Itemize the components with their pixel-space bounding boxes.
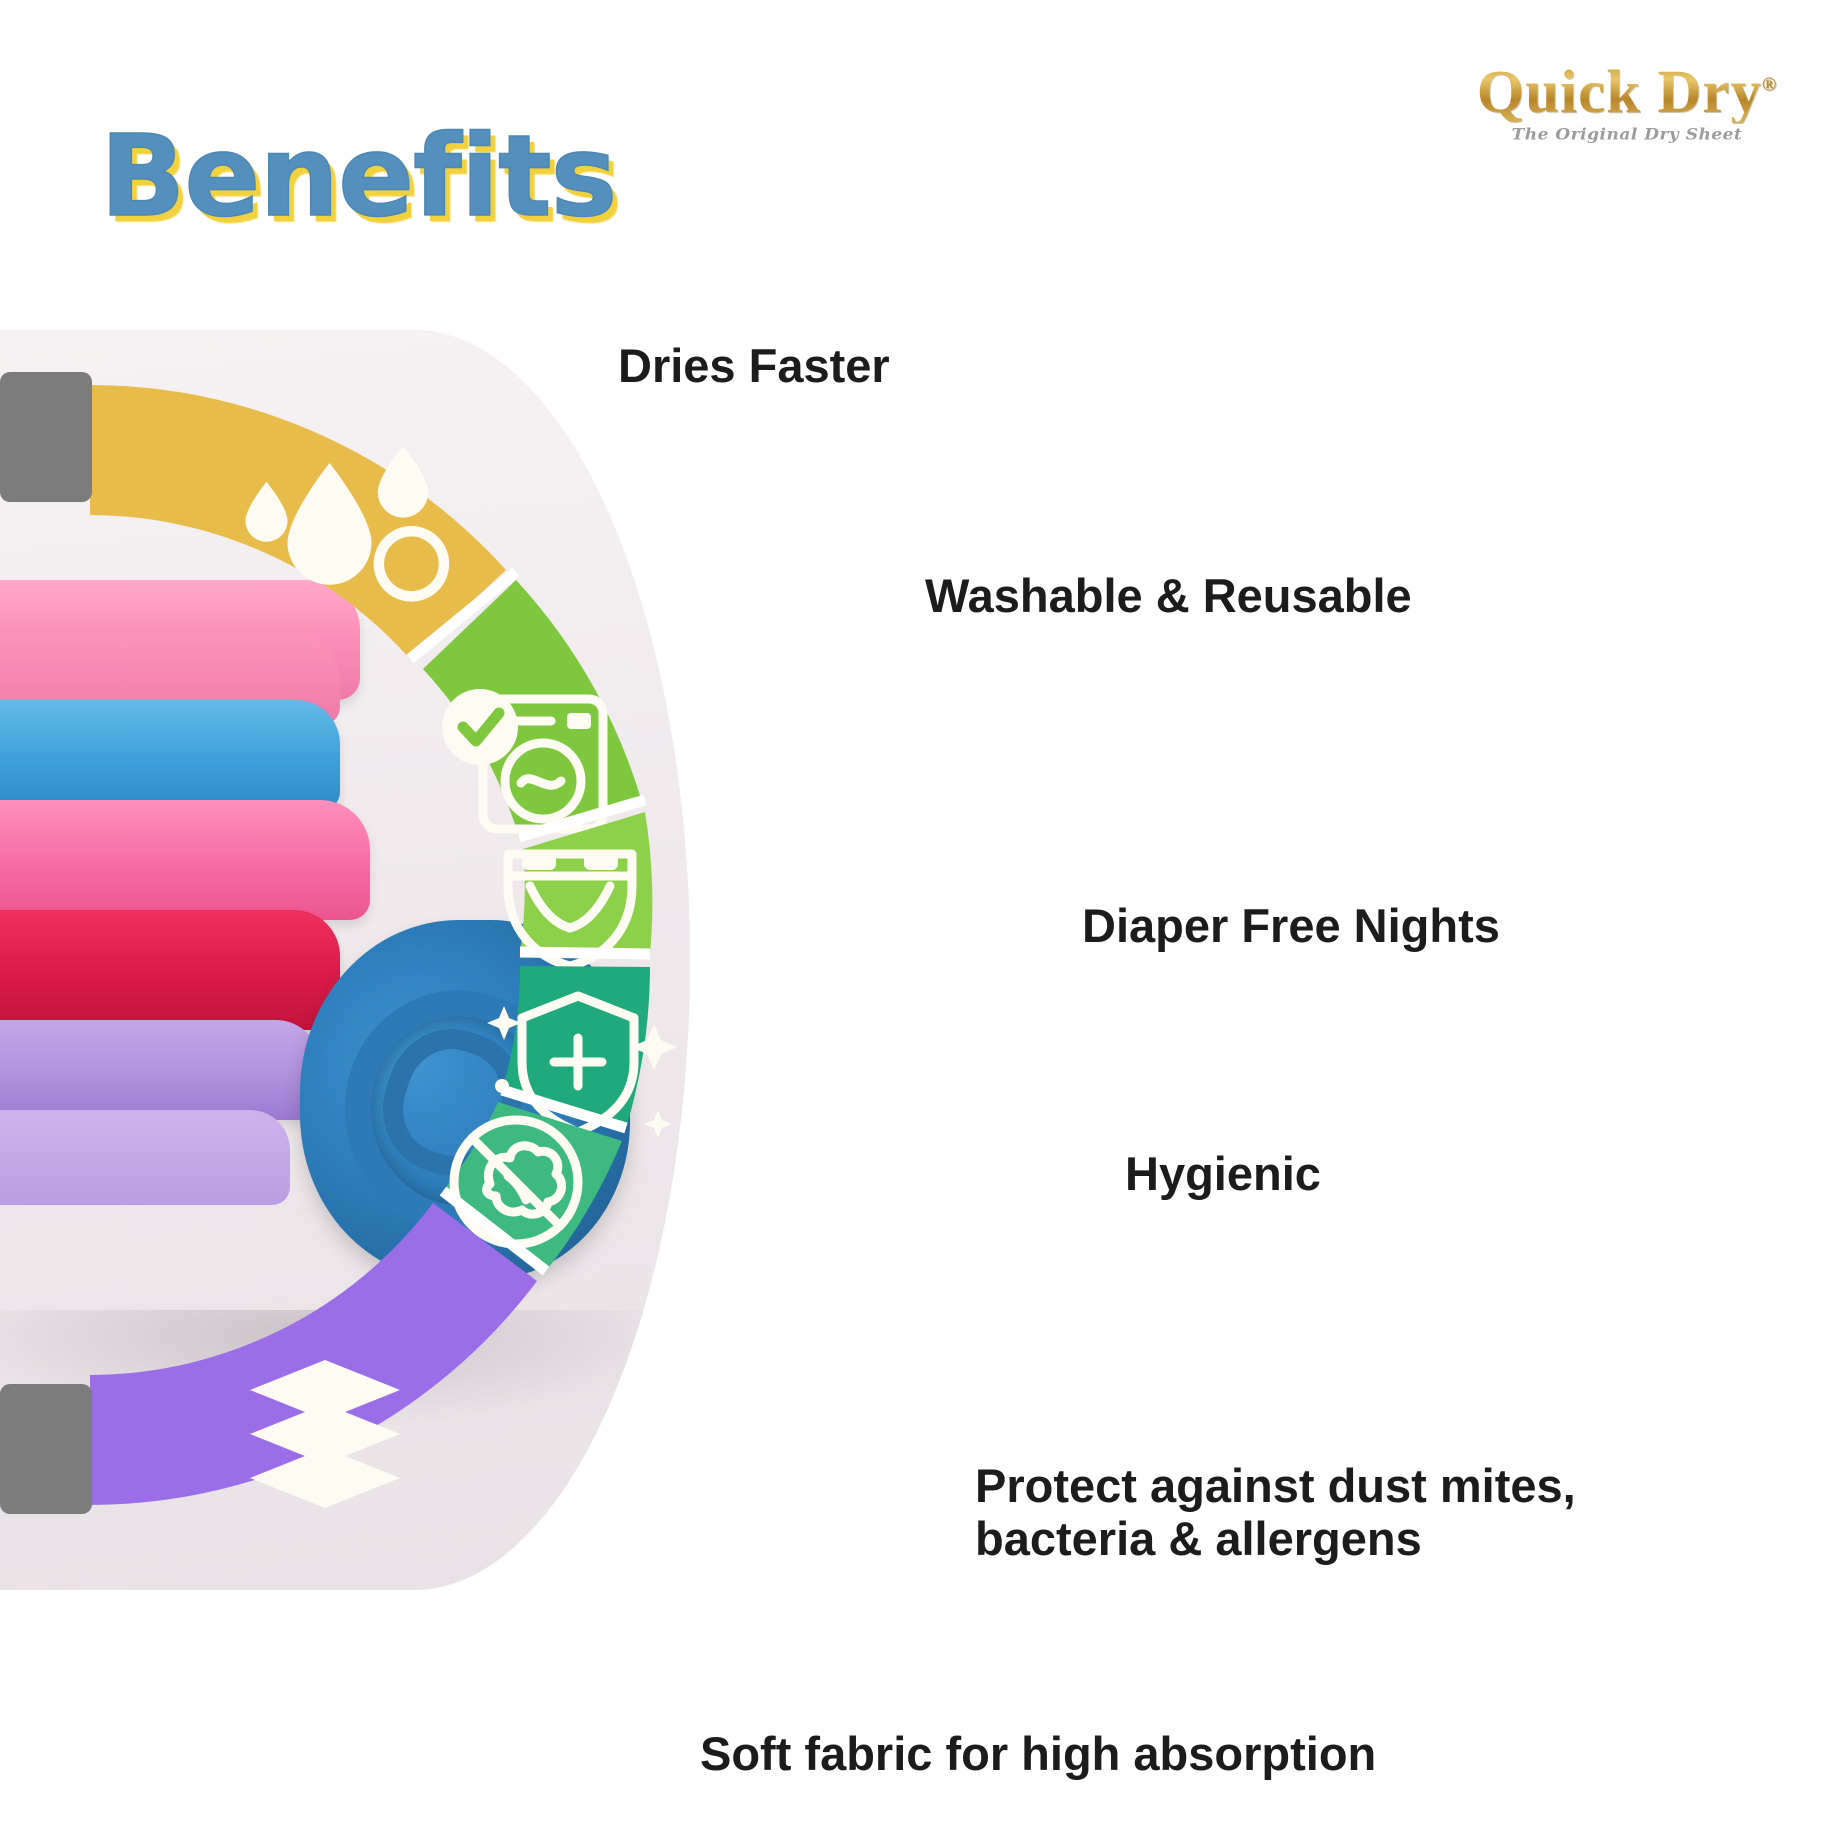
page-title: Benefits	[100, 112, 616, 242]
benefit-label-dries-faster: Dries Faster	[618, 340, 890, 393]
brand-logo: Quick Dry® The Original Dry Sheet	[1462, 62, 1792, 145]
registered-mark: ®	[1762, 75, 1777, 96]
benefits-ring	[0, 300, 1040, 1590]
benefit-label-diaper-free-nights: Diaper Free Nights	[1082, 900, 1500, 953]
brand-tagline: The Original Dry Sheet	[1462, 126, 1792, 144]
brand-name: Quick Dry®	[1477, 62, 1777, 123]
benefit-label-protect-allergens: Protect against dust mites, bacteria & a…	[975, 1460, 1576, 1565]
ring-end-tab-top	[0, 372, 92, 502]
ring-segment-dries-faster[interactable]	[90, 385, 506, 659]
ring-end-tab-bottom	[0, 1384, 92, 1514]
infographic-canvas: Benefits Quick Dry® The Original Dry She…	[0, 0, 1844, 1844]
brand-name-text: Quick Dry	[1477, 59, 1762, 126]
benefit-label-hygienic: Hygienic	[1125, 1148, 1321, 1201]
benefit-label-soft-fabric: Soft fabric for high absorption	[700, 1728, 1376, 1781]
ring-segment-soft-fabric[interactable]	[90, 1203, 537, 1508]
stacked-layers-icon	[250, 1360, 400, 1508]
benefit-label-washable-reusable: Washable & Reusable	[925, 570, 1412, 623]
